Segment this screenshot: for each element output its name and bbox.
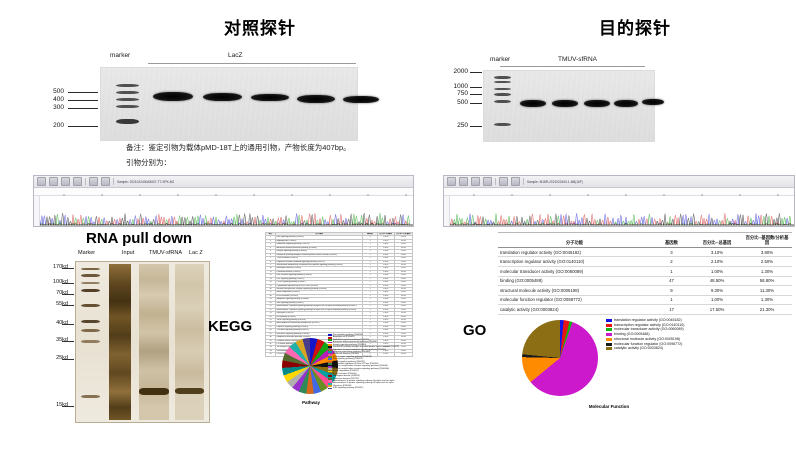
sds-mw-tick (62, 341, 74, 342)
sds-marker-band (81, 289, 100, 292)
go-cell: molecular transducer activity (GO:006008… (498, 267, 651, 277)
legend-label: FGF signaling pathway (P00021) (333, 387, 363, 389)
sds-lacz-strong-band (175, 388, 204, 394)
go-cell: 1.00% (692, 267, 742, 277)
go-cell: molecular function regulator (GO:0098772… (498, 295, 651, 305)
go-table-row: molecular transducer activity (GO:006008… (498, 267, 792, 277)
sds-lane-label: Input (122, 250, 134, 256)
go-cell: 3 (651, 247, 692, 257)
go-legend: translation regulator activity (GO:00451… (606, 318, 684, 351)
chromatogram-left-sample-text: Sample: 2021022400A9607-T7-SPK-M2 (117, 180, 174, 184)
go-cell: 3.10% (692, 247, 742, 257)
legend-swatch (606, 343, 612, 346)
sds-tmuv-lane (139, 264, 169, 420)
go-table-row: transcription regulator activity (GO:014… (498, 257, 792, 267)
find-icon[interactable] (101, 177, 110, 186)
sds-marker-band (81, 304, 100, 307)
next-icon[interactable] (499, 177, 508, 186)
open-icon[interactable] (447, 177, 456, 186)
gel-left-mw-tick (68, 100, 98, 101)
sds-mw-tick (62, 406, 74, 407)
go-legend-item: catalytic activity (GO:0003824) (606, 346, 684, 351)
chromatogram-left[interactable]: Sample: 2021022400A9607-T7-SPK-M2 (33, 175, 414, 227)
go-cell: 58.80% (742, 276, 792, 286)
sds-lane-label: TMUV-sfRNA (149, 250, 182, 256)
chromatogram-right-toolbar[interactable]: Sample: M18R-2021022400-1-M8(16F) (444, 176, 794, 188)
gel-left-mw-label: 500 (38, 88, 64, 95)
kegg-legend-item: FGF signaling pathway (P00021) (328, 387, 399, 389)
next-icon[interactable] (89, 177, 98, 186)
open-icon[interactable] (37, 177, 46, 186)
go-cell: 1.30% (742, 295, 792, 305)
find-icon[interactable] (511, 177, 520, 186)
gel-right-mw-label: 250 (436, 122, 468, 129)
kegg-cell: Heterotrimeric G-protein signaling pathw… (276, 305, 363, 308)
sds-mw-label: 55kd (42, 301, 68, 307)
chromatogram-left-peaks (34, 196, 413, 226)
gel-right-mw-label: 750 (436, 90, 468, 97)
go-cell: 2.50% (742, 257, 792, 267)
gel-right-mw-tick (470, 126, 482, 127)
legend-label: catalytic activity (GO:0003824) (614, 346, 663, 351)
sds-gel-image (75, 261, 210, 423)
gel-right-mw-tick (470, 103, 482, 104)
legend-swatch (606, 324, 612, 327)
gel-right-band (614, 100, 638, 107)
gel-right-ladder-band (494, 123, 511, 126)
kegg-col-header: 百分比--总基因 (377, 233, 394, 236)
gel-left-mw-label: 200 (38, 122, 64, 129)
toolbar-separator (85, 178, 86, 185)
go-cell: translation regulator activity (GO:00451… (498, 247, 651, 257)
legend-swatch (328, 388, 332, 390)
go-cell: 3.80% (742, 247, 792, 257)
gel-right-band (642, 99, 664, 105)
gel-right-sample-underline (500, 66, 645, 67)
gel-left-band (297, 95, 335, 103)
kegg-col-header: 百分比--分析基因 (394, 233, 412, 236)
gel-left-marker-label: marker (110, 52, 130, 59)
go-table-row: structural molecule activity (GO:0005198… (498, 286, 792, 296)
chromatogram-left-trace (34, 196, 413, 226)
save-icon[interactable] (459, 177, 468, 186)
sds-input-lane (109, 264, 131, 420)
legend-swatch (606, 319, 612, 322)
go-cell: 21.30% (742, 305, 792, 315)
go-col-header: 百分比--基因数/分析基因 (742, 233, 792, 248)
go-table-row: translation regulator activity (GO:00451… (498, 247, 792, 257)
go-table-row: binding (GO:0005488)4748.50%58.80% (498, 276, 792, 286)
kegg-legend: Ras signaling pathway (P04014)Angiogenes… (328, 334, 399, 390)
legend-swatch (606, 333, 612, 336)
sds-mw-tick (62, 305, 74, 306)
gel-left-image (100, 67, 358, 141)
go-table-header-row: 分子功能基因数百分比--总基因百分比--基因数/分析基因 (498, 233, 792, 248)
chromatogram-right-trace (444, 196, 794, 226)
chromatogram-right[interactable]: Sample: M18R-2021022400-1-M8(16F) (443, 175, 795, 227)
gel-right-mw-label: 1000 (436, 83, 468, 90)
toolbar-separator (113, 178, 114, 185)
gel-right-sample-label: TMUV-sfRNA (558, 56, 597, 63)
go-table-row: molecular function regulator (GO:0098772… (498, 295, 792, 305)
gel-left-mw-label: 300 (38, 104, 64, 111)
gel-right-mw-tick (470, 94, 482, 95)
sds-mw-label: 70kd (42, 290, 68, 296)
gel-right-mw-label: 2000 (436, 68, 468, 75)
kegg-chart-area: Pathway Ras signaling pathway (P04014)An… (262, 330, 412, 458)
kegg-section-label: KEGG (208, 318, 252, 335)
legend-swatch (606, 328, 612, 331)
go-cell: binding (GO:0005488) (498, 276, 651, 286)
go-table: 分子功能基因数百分比--总基因百分比--基因数/分析基因 translation… (498, 232, 792, 315)
gel-left-ladder-band (116, 105, 139, 108)
go-col-header: 基因数 (651, 233, 692, 248)
gel-right-ladder-band (494, 93, 511, 96)
go-col-header: 分子功能 (498, 233, 651, 248)
gel-left-band (153, 92, 193, 101)
chromatogram-right-axis (444, 196, 450, 226)
export-icon[interactable] (61, 177, 70, 186)
sds-mw-label: 40kd (42, 320, 68, 326)
sds-marker-band (81, 340, 100, 343)
gel-right-ladder-band (494, 100, 511, 103)
gel-left-mw-tick (68, 126, 98, 127)
go-cell: 1.00% (692, 295, 742, 305)
chromatogram-left-toolbar[interactable]: Sample: 2021022400A9607-T7-SPK-M2 (34, 176, 413, 188)
sds-mw-tick (62, 283, 74, 284)
go-col-header: 百分比--总基因 (692, 233, 742, 248)
go-cell: 1.30% (742, 267, 792, 277)
go-section-label: GO (463, 322, 486, 339)
gel-left-mw-tick (68, 108, 98, 109)
gel-left-ladder-band (116, 98, 139, 101)
sds-mw-label: 100kd (42, 279, 68, 285)
chromatogram-left-axis (34, 196, 40, 226)
gel-left-sample-label: LacZ (228, 52, 242, 59)
sds-marker-band (81, 395, 100, 398)
rna-pulldown-title: RNA pull down (86, 230, 192, 247)
gel-left-band (251, 94, 289, 101)
sds-mw-label: 35kd (42, 337, 68, 343)
go-cell: 1 (651, 267, 692, 277)
chromatogram-right-sample-text: Sample: M18R-2021022400-1-M8(16F) (527, 180, 583, 184)
go-chart-area: Molecular Function translation regulator… (498, 316, 792, 442)
save-icon[interactable] (49, 177, 58, 186)
gel-left-mw-label: 400 (38, 96, 64, 103)
gel-left-sample-underline (148, 63, 356, 64)
sds-mw-tick (62, 359, 74, 360)
go-cell: 9 (651, 286, 692, 296)
sds-lacz-lane (175, 264, 204, 420)
print-icon[interactable] (73, 177, 82, 186)
sds-marker-band (81, 268, 100, 270)
gel-right-band (584, 100, 610, 107)
kegg-pie-caption: Pathway (236, 400, 386, 405)
target-probe-title: 目的探针 (555, 14, 715, 39)
sds-mw-label: 170kd (42, 264, 68, 270)
gel-left-texture (101, 68, 357, 140)
legend-swatch (606, 347, 612, 350)
sds-mw-tick (62, 268, 74, 269)
caption-line-1: 备注：鉴定引物为载体pMD-18T上的通用引物，产物长度为407bp。 (126, 142, 351, 155)
go-cell: transcription regulator activity (GO:014… (498, 257, 651, 267)
gel-left-band (203, 93, 242, 101)
kegg-panel: 编号信号通路基因数百分比--总基因百分比--分析基因 1Ras signalin… (264, 230, 414, 458)
go-pie-chart (522, 320, 598, 396)
sds-tmuv-strong-band (139, 388, 169, 395)
go-cell: structural molecule activity (GO:0005198… (498, 286, 651, 296)
go-cell: 2 (651, 257, 692, 267)
gel-left-band (343, 96, 379, 103)
target-probe-gel-panel: marker TMUV-sfRNA 2000 1000 750 500 250 (440, 40, 796, 150)
sds-lane-label: Marker (78, 250, 95, 256)
chromatogram-right-ruler (444, 188, 794, 196)
gel-left-mw-tick (68, 92, 98, 93)
gel-right-image (483, 70, 655, 142)
control-probe-title: 对照探针 (180, 14, 340, 39)
sds-marker-band (81, 274, 100, 277)
go-cell: catalytic activity (GO:0003824) (498, 305, 651, 315)
go-cell: 17.50% (692, 305, 742, 315)
toolbar-separator (523, 178, 524, 185)
gel-right-mw-tick (470, 72, 482, 73)
go-cell: 17 (651, 305, 692, 315)
sds-mw-tick (62, 324, 74, 325)
toolbar-separator (495, 178, 496, 185)
print-icon[interactable] (483, 177, 492, 186)
sds-mw-tick (62, 294, 74, 295)
gel-left-ladder-band (116, 119, 139, 124)
gel-right-band (552, 100, 578, 107)
go-panel: 分子功能基因数百分比--总基因百分比--基因数/分析基因 translation… (498, 232, 792, 442)
sds-marker-band (81, 320, 100, 323)
go-cell: 48.50% (692, 276, 742, 286)
gel-left-ladder-band (116, 84, 139, 87)
go-table-row: catalytic activity (GO:0003824)1717.50%2… (498, 305, 792, 315)
gel-right-ladder-band (494, 76, 511, 79)
gel-right-band (520, 100, 546, 107)
sds-page-panel: Marker Input TMUV-sfRNA Lac Z 170kd 100k… (60, 250, 220, 455)
sds-lane-label: Lac Z (189, 250, 203, 256)
sds-marker-band (81, 329, 100, 332)
export-icon[interactable] (471, 177, 480, 186)
go-cell: 47 (651, 276, 692, 286)
kegg-cell: Heterotrimeric G-protein signaling pathw… (276, 308, 363, 311)
go-cell: 2.10% (692, 257, 742, 267)
go-pie-caption: Molecular Function (462, 404, 756, 409)
sds-mw-label: 15kd (42, 402, 68, 408)
go-cell: 9.30% (692, 286, 742, 296)
caption-line-2: 引物分别为： (126, 157, 171, 170)
gel-right-mw-label: 500 (436, 99, 468, 106)
chromatogram-right-peaks (444, 196, 794, 226)
gel-right-mw-tick (470, 87, 482, 88)
sds-marker-band (81, 282, 100, 284)
chromatogram-left-ruler (34, 188, 413, 196)
gel-right-marker-label: marker (490, 56, 510, 63)
go-cell: 11.30% (742, 286, 792, 296)
sds-mw-label: 25kd (42, 355, 68, 361)
go-cell: 1 (651, 295, 692, 305)
control-probe-gel-panel: marker LacZ 500 400 300 200 (0, 40, 420, 150)
legend-swatch (606, 338, 612, 341)
